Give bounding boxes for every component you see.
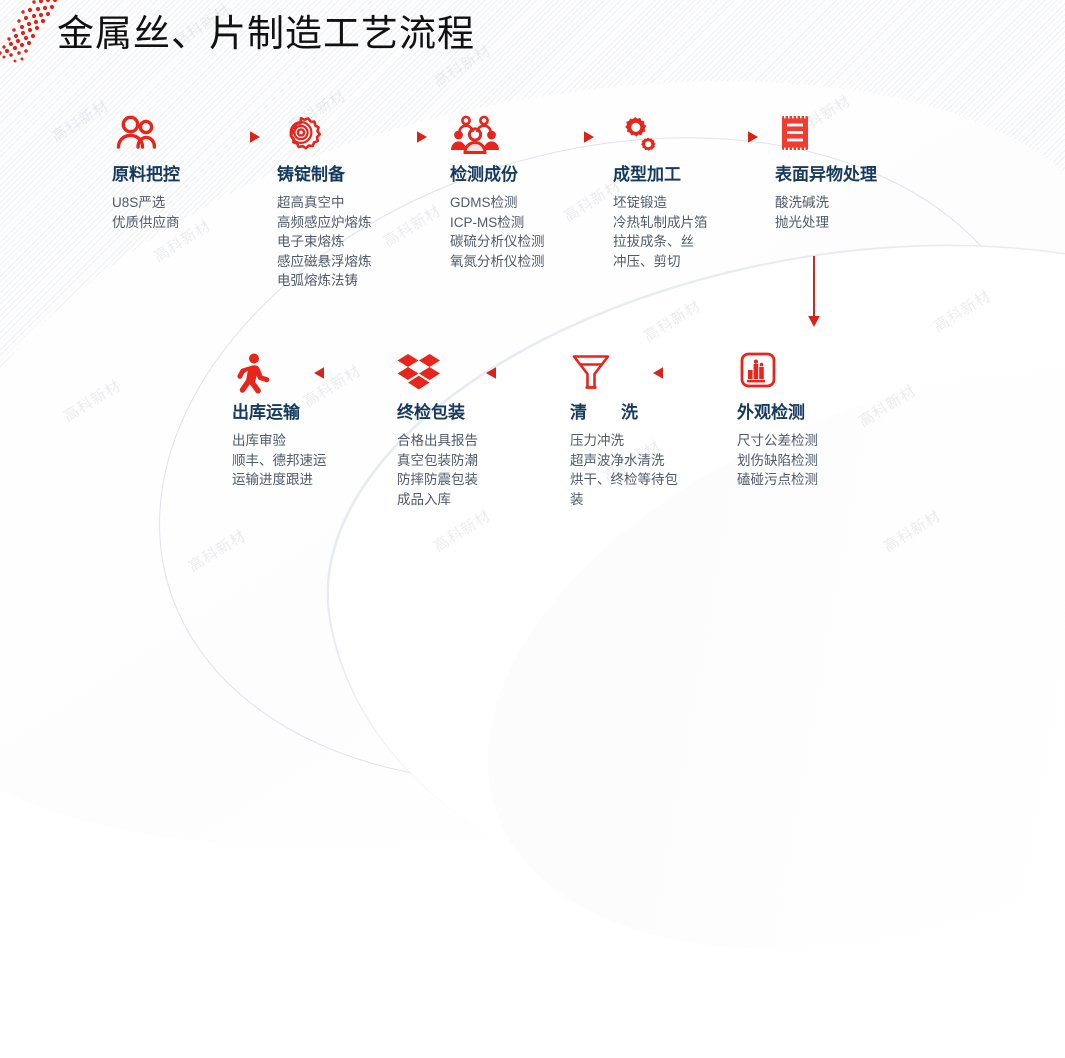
step-title: 检测成份 (450, 164, 605, 186)
step-detail-line: 超高真空中 (277, 193, 442, 213)
step-detail-line: 冷热轧制成片箔 (613, 213, 773, 233)
step-detail-line: 优质供应商 (112, 213, 272, 233)
step-detail-line: 出库审验 (232, 431, 392, 451)
step-detail-list: 出库审验 顺丰、德邦速运 运输进度跟进 (232, 431, 392, 490)
step-detail-line: 烘干、终检等待包装 (570, 470, 690, 509)
step-detail-line: 真空包装防潮 (397, 451, 557, 471)
step-title: 成型加工 (613, 164, 773, 186)
arrow-right-icon (363, 128, 429, 146)
arrow-right-icon (530, 128, 596, 146)
document-stack-icon (775, 114, 945, 160)
arrow-right-icon (694, 128, 760, 146)
step-detail-line: 尺寸公差检测 (737, 431, 887, 451)
step-title: 终检包装 (397, 402, 557, 424)
step-title: 原料把控 (112, 164, 272, 186)
step-detail-line: 感应磁悬浮熔炼 (277, 252, 442, 272)
step-detail-line: 碳硫分析仪检测 (450, 232, 605, 252)
process-flow-diagram: 原料把控 U8S严选 优质供应商 铸锭制备 超高真空中 高频感应炉熔炼 (0, 0, 1065, 598)
step-detail-line: 防摔防震包装 (397, 470, 557, 490)
step-detail-line: 合格出具报告 (397, 431, 557, 451)
step-detail-list: 超高真空中 高频感应炉熔炼 电子束熔炼 感应磁悬浮熔炼 电弧熔炼法铸 (277, 193, 442, 291)
step-detail-line: 高频感应炉熔炼 (277, 213, 442, 233)
arrow-left-icon (652, 364, 718, 382)
inspection-badge-icon (737, 352, 887, 398)
step-detail-line: 拉拔成条、丝 (613, 232, 773, 252)
step-detail-line: 成品入库 (397, 490, 557, 510)
step-detail-list: GDMS检测 ICP-MS检测 碳硫分析仪检测 氧氮分析仪检测 (450, 193, 605, 271)
page-title: 金属丝、片制造工艺流程 (57, 6, 475, 62)
flow-step-surface-treatment[interactable]: 表面异物处理 酸洗碱洗 抛光处理 (775, 114, 945, 232)
step-detail-line: 压力冲洗 (570, 431, 690, 451)
step-title: 铸锭制备 (277, 164, 442, 186)
step-detail-line: U8S严选 (112, 193, 272, 213)
step-detail-list: U8S严选 优质供应商 (112, 193, 272, 232)
arrow-left-icon (313, 364, 379, 382)
step-detail-line: 电弧熔炼法铸 (277, 271, 442, 291)
step-detail-line: 磕碰污点检测 (737, 470, 887, 490)
step-detail-list: 合格出具报告 真空包装防潮 防摔防震包装 成品入库 (397, 431, 557, 509)
step-detail-list: 酸洗碱洗 抛光处理 (775, 193, 945, 232)
arrow-right-icon (196, 128, 262, 146)
step-title: 清 洗 (570, 402, 690, 424)
step-detail-line: 坯锭锻造 (613, 193, 773, 213)
arrow-down-icon (803, 256, 825, 330)
step-detail-line: 顺丰、德邦速运 (232, 451, 392, 471)
step-detail-line: 超声波净水清洗 (570, 451, 690, 471)
step-detail-line: 氧氮分析仪检测 (450, 252, 605, 272)
step-detail-line: GDMS检测 (450, 193, 605, 213)
arrow-left-icon (485, 364, 551, 382)
step-detail-line: 运输进度跟进 (232, 470, 392, 490)
step-title: 外观检测 (737, 402, 887, 424)
step-detail-line: 冲压、剪切 (613, 252, 773, 272)
step-detail-line: 划伤缺陷检测 (737, 451, 887, 471)
step-detail-line: 酸洗碱洗 (775, 193, 945, 213)
step-detail-line: 抛光处理 (775, 213, 945, 233)
step-detail-list: 压力冲洗 超声波净水清洗 烘干、终检等待包装 (570, 431, 690, 509)
step-detail-list: 坯锭锻造 冷热轧制成片箔 拉拔成条、丝 冲压、剪切 (613, 193, 773, 271)
step-title: 表面异物处理 (775, 164, 945, 186)
flow-step-appearance-inspection[interactable]: 外观检测 尺寸公差检测 划伤缺陷检测 磕碰污点检测 (737, 352, 887, 490)
step-detail-list: 尺寸公差检测 划伤缺陷检测 磕碰污点检测 (737, 431, 887, 490)
step-title: 出库运输 (232, 402, 392, 424)
step-detail-line: 电子束熔炼 (277, 232, 442, 252)
step-detail-line: ICP-MS检测 (450, 213, 605, 233)
